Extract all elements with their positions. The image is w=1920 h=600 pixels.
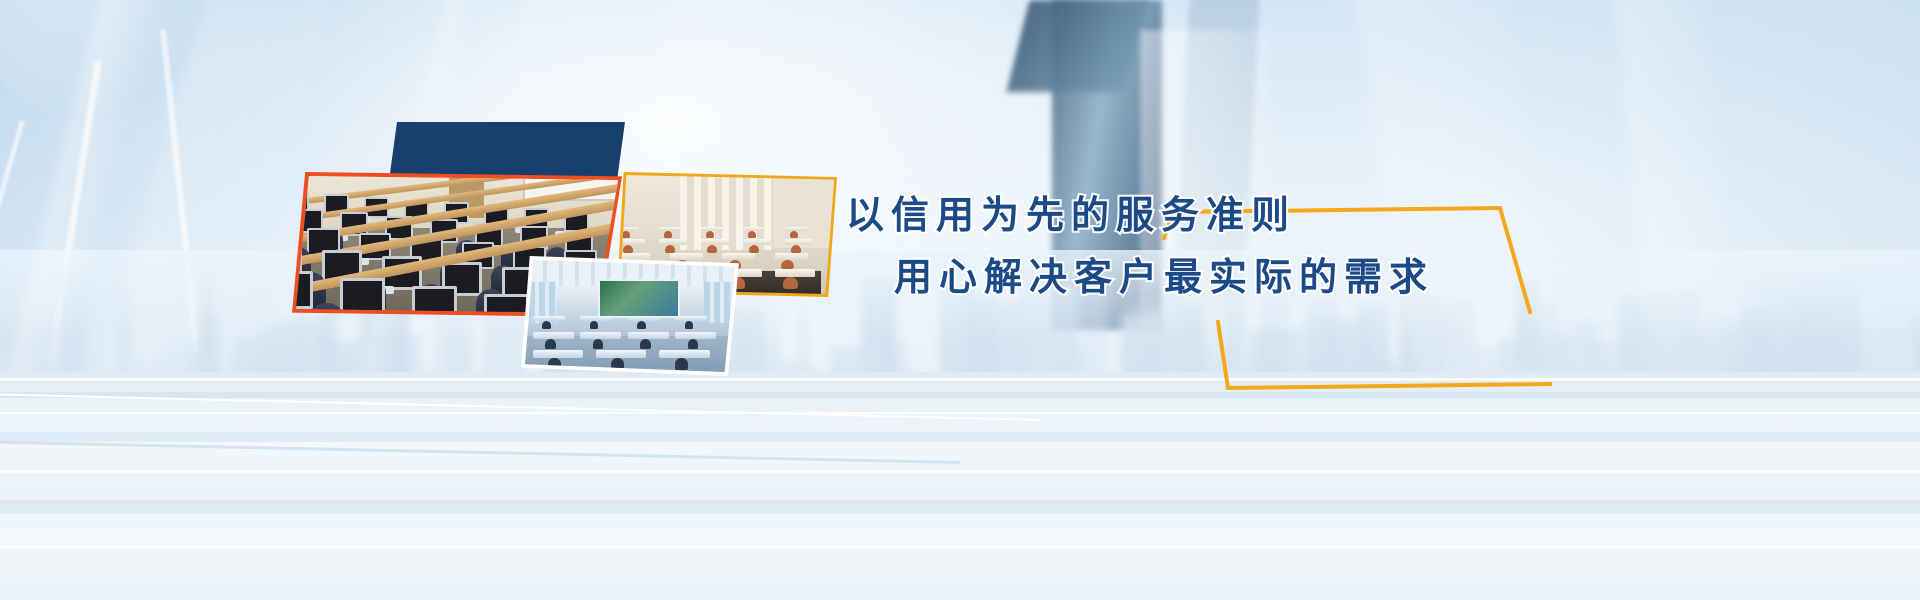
lab-keyboard [296, 231, 303, 237]
control-room-chair [545, 339, 556, 349]
classroom-chair [749, 245, 759, 253]
lab-chair [382, 311, 417, 313]
control-room-artwork [525, 260, 735, 372]
control-room-window-right [704, 282, 735, 324]
headline-block: 以信用为先的服务准则 用心解决客户最实际的需求 [840, 196, 1540, 296]
control-room-chair [542, 321, 550, 329]
control-room-chair [548, 358, 561, 370]
classroom-chair [748, 231, 756, 238]
control-room-chair [611, 358, 624, 370]
lab-chair [296, 226, 298, 252]
classroom-chair [622, 231, 630, 238]
classroom-chair [783, 277, 798, 289]
control-room-chair [637, 321, 645, 329]
ground-band-7 [0, 545, 1920, 549]
lab-monitor [296, 271, 313, 309]
classroom-desk [620, 227, 639, 231]
classroom-chair [706, 231, 714, 238]
ground-band-5 [0, 470, 1920, 473]
hero-banner: 以信用为先的服务准则 用心解决客户最实际的需求 [0, 0, 1920, 600]
control-room-console [675, 332, 716, 338]
ground-band-4 [0, 432, 1920, 442]
photo-control-room[interactable] [521, 256, 739, 376]
lab-monitor [412, 286, 457, 313]
classroom-wall [774, 175, 834, 248]
headline-line-2: 用心解决客户最实际的需求 [894, 258, 1540, 296]
classroom-chair [790, 231, 798, 238]
classroom-chair [623, 245, 633, 253]
control-room-console [580, 316, 612, 321]
classroom-chair [707, 245, 717, 253]
control-room-chair [675, 358, 688, 370]
classroom-chair [781, 260, 793, 270]
control-room-console [628, 332, 669, 338]
photo-collage [0, 0, 900, 420]
control-room-chair [593, 339, 604, 349]
control-room-console [596, 350, 647, 358]
classroom-desk [775, 253, 808, 260]
control-room-video-wall [598, 279, 681, 317]
control-room-chair [640, 339, 651, 349]
classroom-desk [785, 239, 812, 244]
control-room-chair [688, 339, 699, 349]
ground-band-6 [0, 500, 1920, 514]
control-room-console [675, 316, 707, 321]
control-room-console [580, 332, 621, 338]
control-room-console [659, 350, 710, 358]
classroom-chair [664, 231, 672, 238]
classroom-desk [620, 253, 650, 260]
classroom-desk [620, 239, 645, 244]
classroom-chair [665, 245, 675, 253]
classroom-desk [670, 253, 703, 260]
classroom-desk [659, 239, 686, 244]
classroom-desk [743, 239, 770, 244]
classroom-chair [791, 245, 801, 253]
control-room-console [533, 350, 584, 358]
control-room-console [533, 332, 574, 338]
classroom-desk [775, 269, 815, 277]
headline-line-1: 以信用为先的服务准则 [846, 196, 1540, 234]
control-room-chair [590, 321, 598, 329]
lab-monitor [340, 278, 385, 313]
classroom-desk [701, 239, 728, 244]
glass-tower-top [1007, 0, 1150, 92]
lab-monitor [484, 294, 529, 313]
classroom-desk [722, 253, 755, 260]
control-room-chair [685, 321, 693, 329]
lab-keyboard [324, 312, 354, 313]
